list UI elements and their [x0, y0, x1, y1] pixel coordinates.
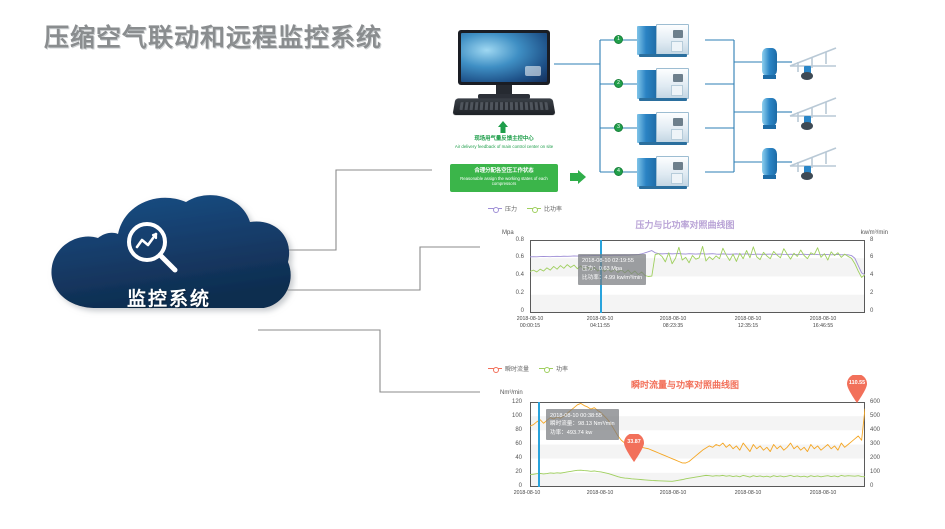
chart1-ylabel-right: kw/m³/min — [861, 230, 888, 236]
chart2-marker-high[interactable]: 110.55 — [846, 375, 868, 403]
legend-item-flow[interactable]: 瞬时流量 — [488, 364, 529, 373]
feedback-caption: 现场用气量反馈主控中心 Air delivery feedback of mai… — [446, 136, 562, 149]
chart2-ytick-right: 400 — [870, 427, 892, 433]
chart2-ytick: 40 — [500, 455, 522, 461]
assign-states-box: 合理分配各空压工作状态 Reasonable assign the workin… — [450, 164, 558, 192]
monitor-screen — [458, 30, 550, 85]
chart1-xtick: 2018-08-10 16:46:55 — [798, 316, 848, 330]
marker-value: 110.55 — [846, 380, 868, 386]
chart1-ytick-right: 6 — [870, 254, 892, 260]
chart2-title: 瞬时流量与功率对照曲线图 — [480, 378, 890, 391]
xtick-date: 2018-08-10 — [798, 490, 848, 497]
air-tank — [762, 96, 777, 129]
chart2-xtick: 2018-08-10 — [575, 490, 625, 497]
legend-label: 瞬时流量 — [505, 364, 529, 373]
flow-power-chart-panel: 瞬时流量 功率 瞬时流量与功率对照曲线图 Nm³/min 120 100 80 … — [480, 362, 890, 512]
legend-item-pressure[interactable]: 压力 — [488, 204, 517, 213]
tooltip-line2: 比功率：4.99 kw/m³/min — [582, 274, 642, 282]
tooltip-timestamp: 2018-08-10 02:19:55 — [582, 257, 642, 265]
chart2-ytick: 20 — [500, 469, 522, 475]
chart1-xtick: 2018-08-10 04:11:55 — [575, 316, 625, 330]
xtick-date: 2018-08-10 — [648, 490, 698, 497]
xtick-time: 08:23:35 — [648, 323, 698, 330]
chart1-title: 压力与比功率对照曲线图 — [480, 218, 890, 231]
chart1-ytick-right: 8 — [870, 237, 892, 243]
slide-canvas: 压缩空气联动和远程监控系统 — [0, 0, 945, 529]
chart2-ytick: 0 — [500, 483, 522, 489]
chart2-xtick: 2018-08-10 — [502, 490, 552, 497]
chart2-ytick: 120 — [500, 399, 522, 405]
xtick-time: 16:46:55 — [798, 323, 848, 330]
chart2-marker-low[interactable]: 33.87 — [623, 434, 645, 462]
xtick-time: 12:35:15 — [723, 323, 773, 330]
xtick-date: 2018-08-10 — [575, 490, 625, 497]
chart2-ylabel: Nm³/min — [500, 390, 523, 396]
feedback-caption-en: Air delivery feedback of main control ce… — [446, 144, 562, 150]
node-dot: 4 — [614, 167, 623, 176]
tooltip-line1: 压力：0.63 Mpa — [582, 265, 642, 273]
chart1-ytick-right: 0 — [870, 308, 892, 314]
tooltip-line1: 瞬时流量：98.13 Nm³/min — [550, 420, 615, 428]
chart1-ytick: 0.4 — [502, 272, 524, 278]
xtick-date: 2018-08-10 — [575, 316, 625, 323]
assign-states-cn: 合理分配各空压工作状态 — [450, 168, 558, 175]
cloud-label: 监控系统 — [40, 284, 298, 311]
legend-label: 压力 — [505, 204, 517, 213]
legend-marker-icon — [539, 365, 553, 372]
chart2-tooltip: 2018-08-10 00:38:55 瞬时流量：98.13 Nm³/min 功… — [546, 409, 619, 440]
chart1-ytick-right: 4 — [870, 272, 892, 278]
node-dot: 3 — [614, 123, 623, 132]
chart2-ytick-right: 300 — [870, 441, 892, 447]
chart1-tooltip: 2018-08-10 02:19:55 压力：0.63 Mpa 比功率：4.99… — [578, 254, 646, 285]
chart2-xtick: 2018-08-10 — [723, 490, 773, 497]
chart2-ytick-right: 200 — [870, 455, 892, 461]
chart1-xtick: 2018-08-10 00:00:15 — [505, 316, 555, 330]
chart1-ytick: 0.2 — [502, 290, 524, 296]
legend-item-power[interactable]: 功率 — [539, 364, 568, 373]
chart1-ylabel: Mpa — [502, 230, 514, 236]
compressor-unit — [637, 24, 689, 57]
compressor-unit — [637, 112, 689, 145]
chart1-ytick-right: 2 — [870, 290, 892, 296]
chart1-ytick: 0.6 — [502, 254, 524, 260]
chart2-cursor-line — [538, 402, 540, 487]
xtick-date: 2018-08-10 — [723, 490, 773, 497]
chart2-ytick-right: 600 — [870, 399, 892, 405]
compressor-unit — [637, 68, 689, 101]
compressor-unit — [637, 156, 689, 189]
magnifier-chart-icon — [122, 218, 184, 280]
tooltip-timestamp: 2018-08-10 00:38:55 — [550, 412, 615, 420]
chart2-ytick: 80 — [500, 427, 522, 433]
node-dot: 1 — [614, 35, 623, 44]
chart1-xtick: 2018-08-10 12:35:15 — [723, 316, 773, 330]
chart2-xtick: 2018-08-10 — [648, 490, 698, 497]
marker-value: 33.87 — [623, 439, 645, 445]
legend-item-specific-power[interactable]: 比功率 — [527, 204, 562, 213]
legend-label: 比功率 — [544, 204, 562, 213]
chart2-ytick-right: 100 — [870, 469, 892, 475]
xtick-date: 2018-08-10 — [798, 316, 848, 323]
chart2-ytick: 100 — [500, 413, 522, 419]
chart2-legend: 瞬时流量 功率 — [488, 364, 568, 373]
xtick-date: 2018-08-10 — [502, 490, 552, 497]
assign-states-en: Reasonable assign the working states of … — [450, 176, 558, 187]
pressure-power-chart-panel: 压力 比功率 压力与比功率对照曲线图 Mpa kw/m³/min 0.8 0.6… — [480, 202, 890, 337]
legend-marker-icon — [488, 365, 502, 372]
system-diagram-panel: 现场用气量反馈主控中心 Air delivery feedback of mai… — [432, 22, 942, 200]
air-tank — [762, 146, 777, 179]
chart1-xtick: 2018-08-10 08:23:35 — [648, 316, 698, 330]
xtick-date: 2018-08-10 — [505, 316, 555, 323]
xtick-date: 2018-08-10 — [648, 316, 698, 323]
feedback-caption-cn: 现场用气量反馈主控中心 — [446, 136, 562, 143]
chart2-ytick-right: 0 — [870, 483, 892, 489]
chart2-ytick: 60 — [500, 441, 522, 447]
chart2-ytick-right: 500 — [870, 413, 892, 419]
arrow-up-icon — [496, 121, 510, 134]
air-tank — [762, 46, 777, 79]
chart1-legend: 压力 比功率 — [488, 204, 562, 213]
tooltip-line2: 功率：493.74 kw — [550, 429, 615, 437]
legend-marker-icon — [488, 205, 502, 212]
monitor-workstation — [454, 30, 554, 116]
node-dot: 2 — [614, 79, 623, 88]
xtick-date: 2018-08-10 — [723, 316, 773, 323]
legend-marker-icon — [527, 205, 541, 212]
xtick-time: 04:11:55 — [575, 323, 625, 330]
chart1-ytick: 0.8 — [502, 237, 524, 243]
chart2-xtick: 2018-08-10 — [798, 490, 848, 497]
legend-label: 功率 — [556, 364, 568, 373]
chart1-ytick: 0 — [502, 308, 524, 314]
keyboard — [452, 98, 555, 115]
arrow-right-icon — [570, 170, 586, 184]
xtick-time: 00:00:15 — [505, 323, 555, 330]
